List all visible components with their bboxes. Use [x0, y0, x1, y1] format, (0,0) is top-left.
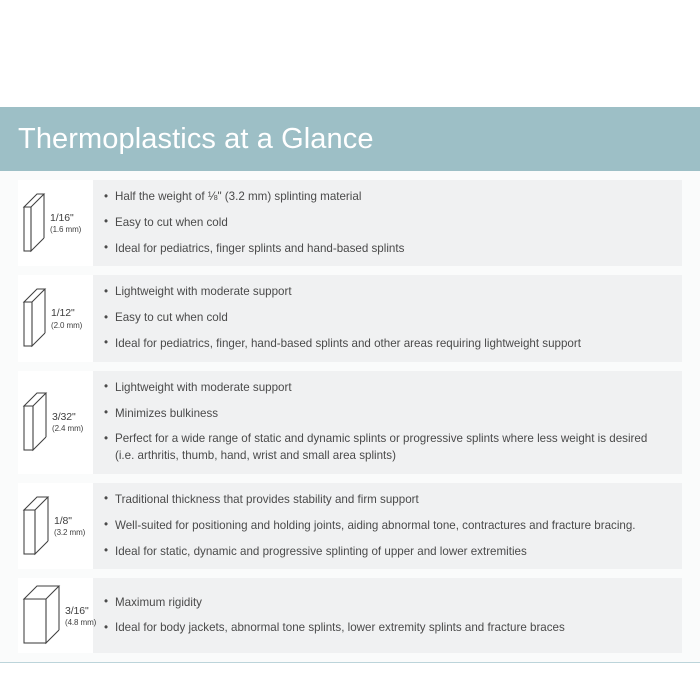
thickness-inches-label: 3/32" [52, 411, 83, 423]
feature-bullet-list: Half the weight of ⅛" (3.2 mm) splinting… [103, 189, 668, 257]
thickness-row: 1/16"(1.6 mm)Half the weight of ⅛" (3.2 … [18, 180, 682, 266]
thick-slab-icon: 3/16"(4.8 mm) [22, 584, 96, 647]
thin-slab-icon: 1/16"(1.6 mm) [22, 192, 81, 255]
thickness-inches-label: 1/12" [51, 307, 82, 319]
feature-bullet-item: Lightweight with moderate support [103, 284, 668, 301]
card-header: Thermoplastics at a Glance [0, 107, 700, 171]
feature-bullet-item: Well-suited for positioning and holding … [103, 518, 668, 535]
feature-bullet-item: Lightweight with moderate support [103, 380, 668, 397]
thermoplastics-card: Thermoplastics at a Glance 1/16"(1.6 mm)… [0, 107, 700, 663]
feature-bullet-item: Traditional thickness that provides stab… [103, 492, 668, 509]
thickness-dimension-label: 1/8"(3.2 mm) [53, 515, 85, 537]
thickness-row: 1/12"(2.0 mm)Lightweight with moderate s… [18, 275, 682, 361]
thickness-icon-cell: 1/8"(3.2 mm) [18, 483, 93, 569]
thickness-row: 1/8"(3.2 mm)Traditional thickness that p… [18, 483, 682, 569]
thickness-icon-cell: 1/16"(1.6 mm) [18, 180, 93, 266]
thickness-inches-label: 3/16" [65, 605, 96, 617]
thickness-dimension-label: 3/32"(2.4 mm) [51, 411, 83, 433]
feature-bullet-item: Ideal for pediatrics, finger, hand-based… [103, 336, 668, 353]
feature-bullet-item: Easy to cut when cold [103, 215, 668, 232]
thickness-dimension-label: 1/12"(2.0 mm) [50, 307, 82, 329]
thickness-icon-cell: 1/12"(2.0 mm) [18, 275, 93, 361]
feature-bullet-item: Ideal for body jackets, abnormal tone sp… [103, 620, 668, 637]
feature-bullet-item: Ideal for static, dynamic and progressiv… [103, 544, 668, 561]
thickness-mm-label: (2.4 mm) [52, 424, 83, 433]
thickness-dimension-label: 1/16"(1.6 mm) [49, 212, 81, 234]
feature-bullet-list: Lightweight with moderate supportEasy to… [103, 284, 668, 352]
thickness-mm-label: (2.0 mm) [51, 321, 82, 330]
medium-slab-icon: 3/32"(2.4 mm) [22, 391, 83, 454]
feature-bullet-list: Lightweight with moderate supportMinimiz… [103, 380, 668, 465]
feature-bullet-item: Minimizes bulkiness [103, 406, 668, 423]
feature-bullet-item: Ideal for pediatrics, finger splints and… [103, 241, 668, 258]
thickness-description-cell: Lightweight with moderate supportMinimiz… [93, 371, 682, 474]
thickness-mm-label: (3.2 mm) [54, 528, 85, 537]
thickness-inches-label: 1/8" [54, 515, 85, 527]
thickness-dimension-label: 3/16"(4.8 mm) [64, 605, 96, 627]
thickness-inches-label: 1/16" [50, 212, 81, 224]
page-root: Thermoplastics at a Glance 1/16"(1.6 mm)… [0, 0, 700, 700]
feature-bullet-item: Easy to cut when cold [103, 310, 668, 327]
thickness-description-cell: Lightweight with moderate supportEasy to… [93, 275, 682, 361]
thickness-description-cell: Half the weight of ⅛" (3.2 mm) splinting… [93, 180, 682, 266]
feature-bullet-item: Perfect for a wide range of static and d… [103, 431, 668, 465]
thickness-icon-cell: 3/16"(4.8 mm) [18, 578, 93, 653]
thickness-mm-label: (1.6 mm) [50, 225, 81, 234]
thickness-row: 3/32"(2.4 mm)Lightweight with moderate s… [18, 371, 682, 474]
thickness-mm-label: (4.8 mm) [65, 618, 96, 627]
page-title: Thermoplastics at a Glance [18, 125, 374, 154]
thickness-description-cell: Traditional thickness that provides stab… [93, 483, 682, 569]
thickness-description-cell: Maximum rigidityIdeal for body jackets, … [93, 578, 682, 653]
feature-bullet-item: Maximum rigidity [103, 595, 668, 612]
feature-bullet-list: Traditional thickness that provides stab… [103, 492, 668, 560]
feature-bullet-item: Half the weight of ⅛" (3.2 mm) splinting… [103, 189, 668, 206]
thickness-row: 3/16"(4.8 mm)Maximum rigidityIdeal for b… [18, 578, 682, 653]
thickness-row-list: 1/16"(1.6 mm)Half the weight of ⅛" (3.2 … [0, 171, 700, 653]
thin-slab-icon: 1/12"(2.0 mm) [22, 287, 82, 350]
feature-bullet-list: Maximum rigidityIdeal for body jackets, … [103, 595, 668, 638]
thickness-icon-cell: 3/32"(2.4 mm) [18, 371, 93, 474]
medium-slab-icon: 1/8"(3.2 mm) [22, 495, 85, 558]
